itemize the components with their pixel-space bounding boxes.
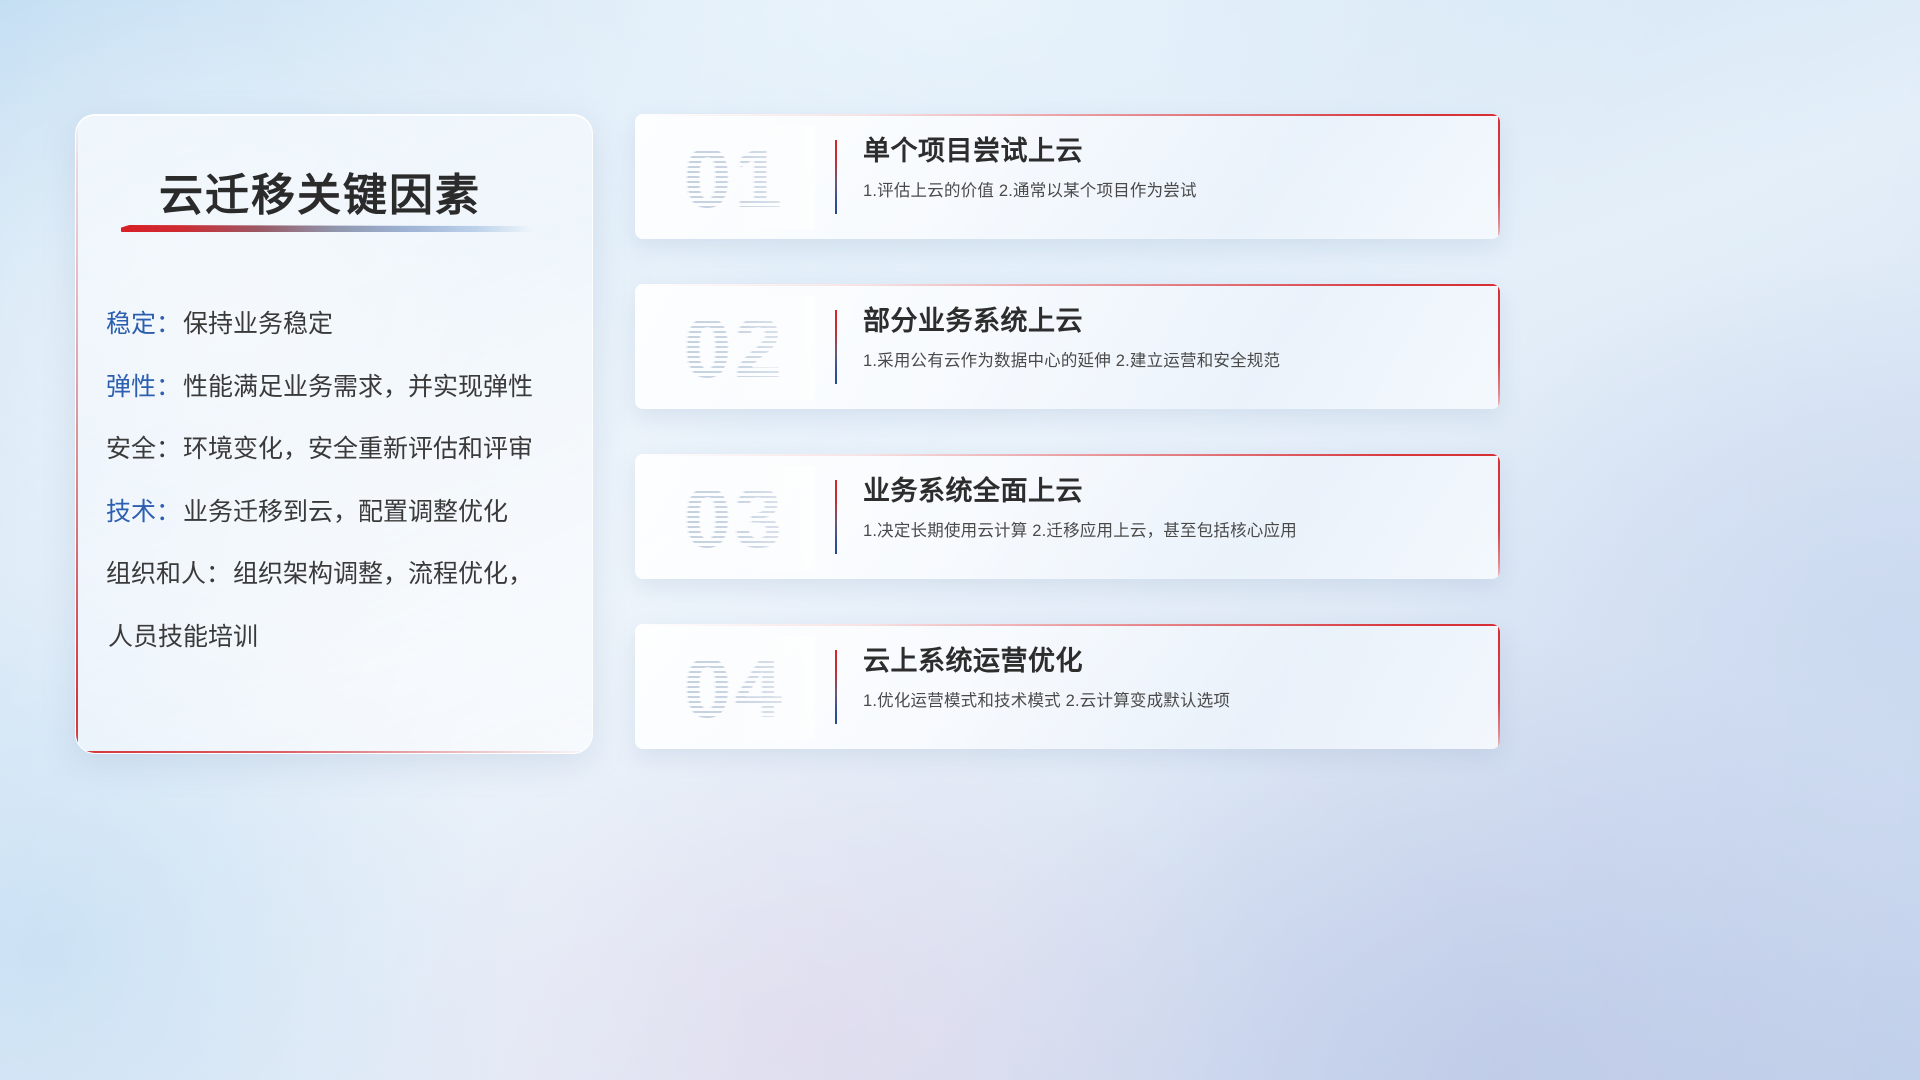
stage-number: 01	[655, 126, 815, 230]
factor-text: 性能满足业务需求，并实现弹性	[183, 374, 533, 402]
key-factors-list: 稳定：保持业务稳定弹性：性能满足业务需求，并实现弹性安全：环境变化，安全重新评估…	[106, 311, 572, 651]
factor-text: 人员技能培训	[108, 624, 258, 652]
factor-text: 业务迁移到云，配置调整优化	[183, 499, 508, 527]
factor-row: 技术：业务迁移到云，配置调整优化	[106, 499, 572, 527]
stage-number: 02	[655, 296, 815, 400]
stage-card-body: 部分业务系统上云1.采用公有云作为数据中心的延伸 2.建立运营和安全规范	[863, 306, 1476, 372]
factor-label: 稳定：	[106, 311, 181, 339]
factor-label: 安全：	[106, 436, 181, 464]
stage-card[interactable]: 03业务系统全面上云1.决定长期使用云计算 2.迁移应用上云，甚至包括核心应用	[635, 454, 1500, 579]
stage-card[interactable]: 04云上系统运营优化1.优化运营模式和技术模式 2.云计算变成默认选项	[635, 624, 1500, 749]
stage-card[interactable]: 01单个项目尝试上云1.评估上云的价值 2.通常以某个项目作为尝试	[635, 114, 1500, 239]
slide-stage: 云迁移关键因素 稳定：保持业务稳定弹性：性能满足业务需求，并实现弹性安全：环境变…	[0, 0, 1920, 1080]
page-title: 云迁移关键因素	[159, 159, 481, 223]
stage-card-body: 单个项目尝试上云1.评估上云的价值 2.通常以某个项目作为尝试	[863, 136, 1476, 202]
stage-number: 03	[655, 466, 815, 570]
stage-divider-bar	[835, 310, 837, 384]
stage-title: 单个项目尝试上云	[863, 136, 1476, 167]
stage-subtitle: 1.评估上云的价值 2.通常以某个项目作为尝试	[863, 181, 1476, 202]
stage-subtitle: 1.采用公有云作为数据中心的延伸 2.建立运营和安全规范	[863, 351, 1476, 372]
key-factors-panel: 云迁移关键因素 稳定：保持业务稳定弹性：性能满足业务需求，并实现弹性安全：环境变…	[75, 114, 593, 754]
stage-card[interactable]: 02部分业务系统上云1.采用公有云作为数据中心的延伸 2.建立运营和安全规范	[635, 284, 1500, 409]
stage-divider-bar	[835, 480, 837, 554]
stage-divider-bar	[835, 140, 837, 214]
stage-divider-bar	[835, 650, 837, 724]
factor-text: 组织架构调整，流程优化，	[233, 561, 533, 589]
stage-subtitle: 1.优化运营模式和技术模式 2.云计算变成默认选项	[863, 691, 1476, 712]
stage-card-body: 业务系统全面上云1.决定长期使用云计算 2.迁移应用上云，甚至包括核心应用	[863, 476, 1476, 542]
stage-title: 部分业务系统上云	[863, 306, 1476, 337]
factor-row: 组织和人：组织架构调整，流程优化，	[106, 561, 572, 589]
title-underline-accent	[121, 225, 533, 232]
factor-label: 组织和人：	[106, 561, 231, 589]
factor-row: 稳定：保持业务稳定	[106, 311, 572, 339]
factor-row: 弹性：性能满足业务需求，并实现弹性	[106, 374, 572, 402]
stage-subtitle: 1.决定长期使用云计算 2.迁移应用上云，甚至包括核心应用	[863, 521, 1476, 542]
stage-card-list: 01单个项目尝试上云1.评估上云的价值 2.通常以某个项目作为尝试02部分业务系…	[635, 114, 1500, 749]
factor-row: 人员技能培训	[106, 624, 572, 652]
factor-label: 弹性：	[106, 374, 181, 402]
factor-row: 安全：环境变化，安全重新评估和评审	[106, 436, 572, 464]
factor-label: 技术：	[106, 499, 181, 527]
factor-text: 保持业务稳定	[183, 311, 333, 339]
stage-title: 云上系统运营优化	[863, 646, 1476, 677]
stage-card-body: 云上系统运营优化1.优化运营模式和技术模式 2.云计算变成默认选项	[863, 646, 1476, 712]
factor-text: 环境变化，安全重新评估和评审	[183, 436, 533, 464]
stage-title: 业务系统全面上云	[863, 476, 1476, 507]
stage-number: 04	[655, 636, 815, 740]
